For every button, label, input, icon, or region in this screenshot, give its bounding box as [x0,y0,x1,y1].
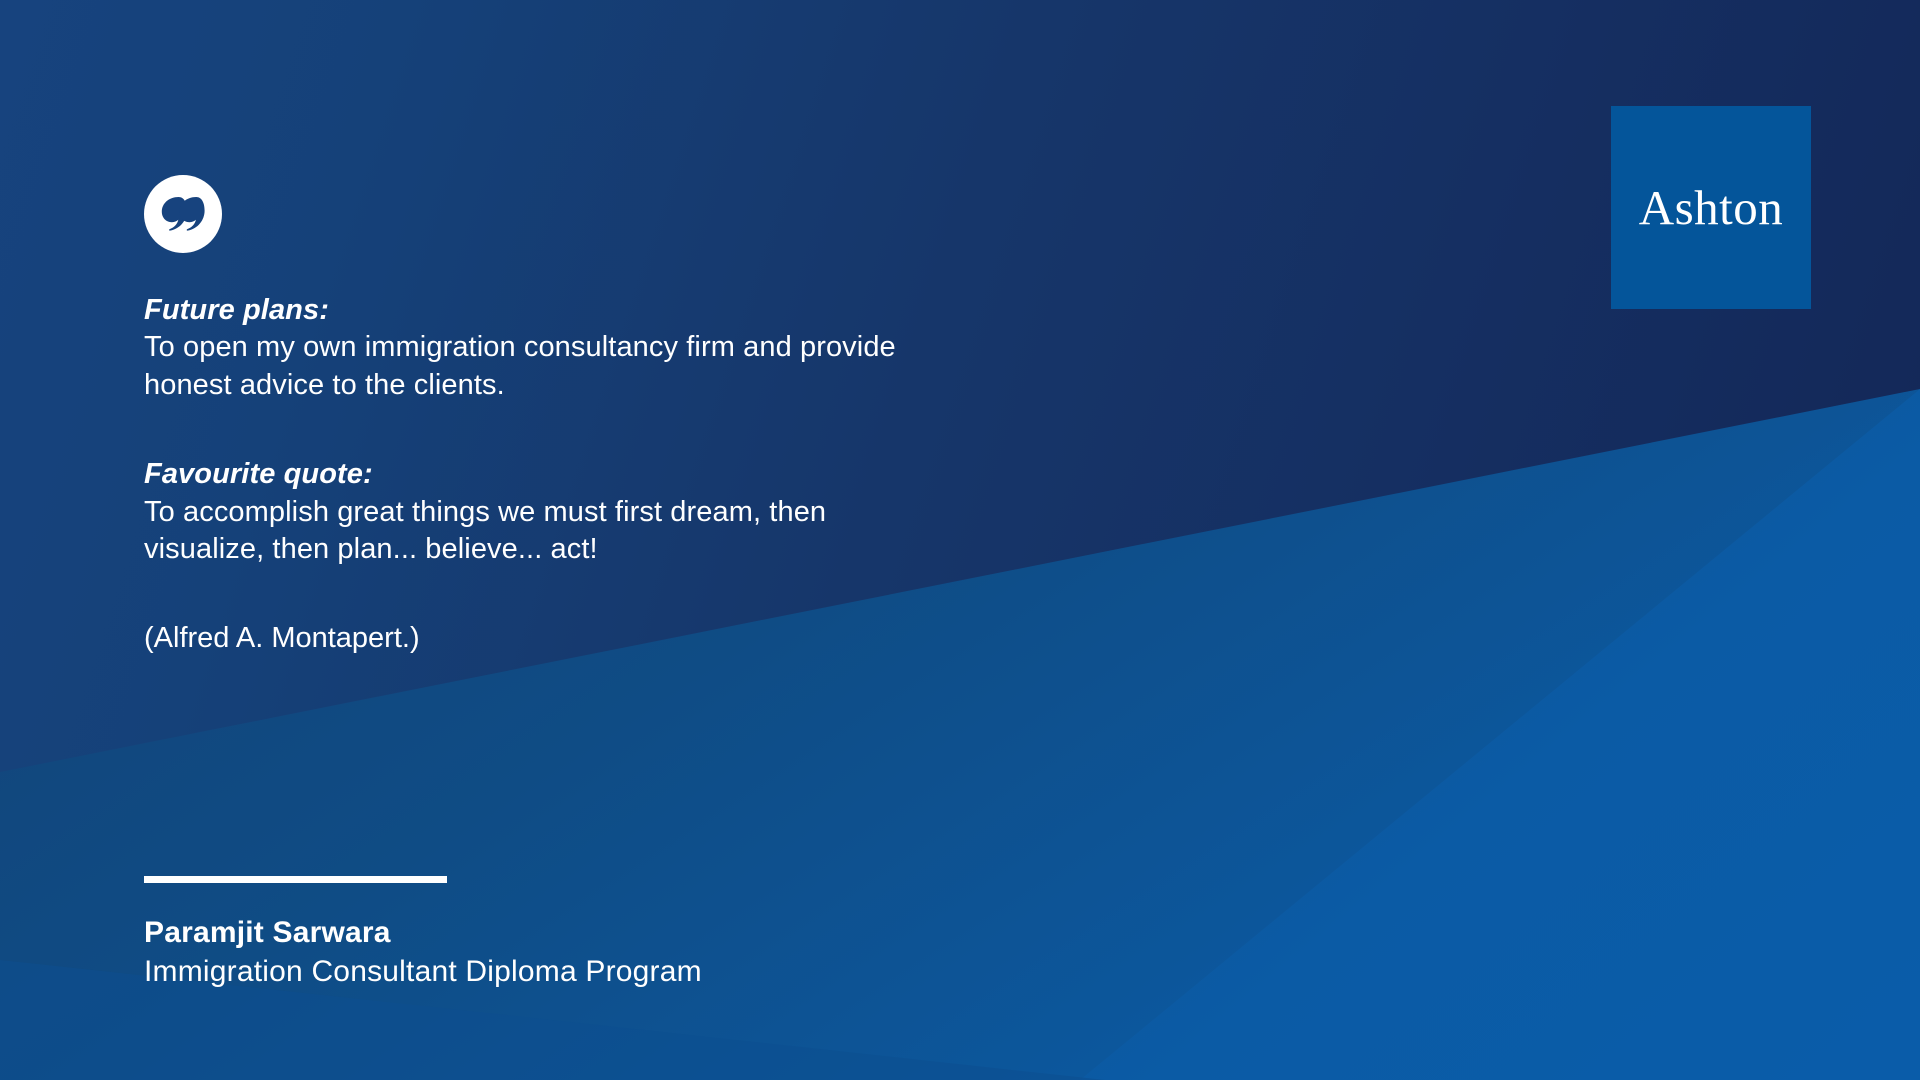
future-plans-text: To open my own immigration consultancy f… [144,329,1204,404]
speaker-signature: Paramjit Sarwara Immigration Consultant … [144,876,702,991]
speaker-program: Immigration Consultant Diploma Program [144,952,702,991]
speaker-name: Paramjit Sarwara [144,913,702,952]
testimonial-slide: Future plans: To open my own immigration… [0,0,1920,1080]
ashton-logo: Ashton [1611,106,1811,309]
quote-attribution: (Alfred A. Montapert.) [144,620,1204,657]
signature-rule [144,876,447,883]
ashton-logo-wordmark: Ashton [1639,183,1784,232]
favourite-quote-label: Favourite quote: [144,456,1204,493]
favourite-quote-text: To accomplish great things we must first… [144,494,1204,569]
copy-spacer [144,404,1204,456]
quotation-mark-icon [161,197,205,231]
diagonal-band-accent [1080,389,1920,1080]
future-plans-label: Future plans: [144,292,1204,329]
copy-spacer-2 [144,568,1204,620]
testimonial-copy: Future plans: To open my own immigration… [144,292,1204,658]
quote-badge [144,175,222,253]
